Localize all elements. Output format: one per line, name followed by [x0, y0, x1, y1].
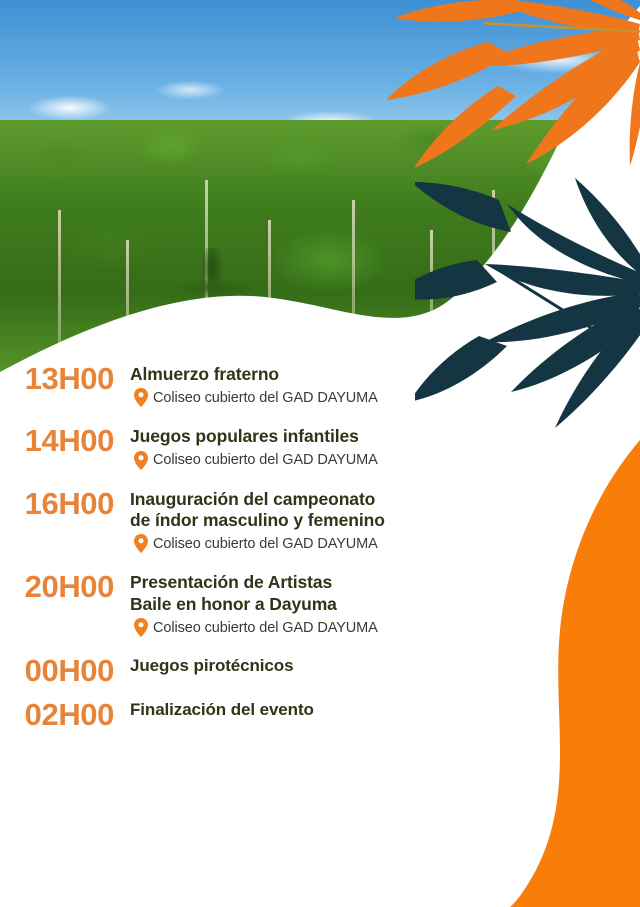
event-detail: Almuerzo fraterno Coliseo cubierto del G… — [130, 362, 560, 407]
venue-text: Coliseo cubierto del GAD DAYUMA — [153, 452, 378, 468]
event-venue: Coliseo cubierto del GAD DAYUMA — [134, 451, 560, 470]
event-poster: 13H00 Almuerzo fraterno Coliseo cubierto… — [0, 0, 640, 907]
event-time: 20H00 — [0, 570, 130, 602]
schedule-row: 16H00 Inauguración del campeonato de índ… — [0, 487, 560, 554]
schedule-row: 02H00 Finalización del evento — [0, 698, 560, 730]
event-detail: Finalización del evento — [130, 698, 560, 721]
event-title: Almuerzo fraterno — [130, 364, 560, 385]
schedule-row: 13H00 Almuerzo fraterno Coliseo cubierto… — [0, 362, 560, 407]
event-detail: Presentación de Artistas Baile en honor … — [130, 570, 560, 637]
event-detail: Inauguración del campeonato de índor mas… — [130, 487, 560, 554]
event-title: Finalización del evento — [130, 700, 560, 721]
schedule-row: 00H00 Juegos pirotécnicos — [0, 654, 560, 686]
palm-tree-crown — [150, 248, 280, 344]
event-detail: Juegos populares infantiles Coliseo cubi… — [130, 424, 560, 469]
venue-text: Coliseo cubierto del GAD DAYUMA — [153, 620, 378, 636]
event-title: Juegos populares infantiles — [130, 426, 560, 447]
event-venue: Coliseo cubierto del GAD DAYUMA — [134, 534, 560, 553]
event-venue: Coliseo cubierto del GAD DAYUMA — [134, 618, 560, 637]
event-title: Presentación de Artistas Baile en honor … — [130, 572, 560, 615]
event-venue: Coliseo cubierto del GAD DAYUMA — [134, 388, 560, 407]
event-title: Juegos pirotécnicos — [130, 656, 560, 677]
event-time: 02H00 — [0, 698, 130, 730]
venue-text: Coliseo cubierto del GAD DAYUMA — [153, 536, 378, 552]
event-time: 00H00 — [0, 654, 130, 686]
location-pin-icon — [134, 388, 148, 407]
location-pin-icon — [134, 618, 148, 637]
schedule-list: 13H00 Almuerzo fraterno Coliseo cubierto… — [0, 362, 560, 742]
event-time: 14H00 — [0, 424, 130, 456]
location-pin-icon — [134, 534, 148, 553]
venue-text: Coliseo cubierto del GAD DAYUMA — [153, 390, 378, 406]
event-detail: Juegos pirotécnicos — [130, 654, 560, 677]
schedule-row: 14H00 Juegos populares infantiles Colise… — [0, 424, 560, 469]
event-time: 16H00 — [0, 487, 130, 519]
event-title: Inauguración del campeonato de índor mas… — [130, 489, 560, 532]
location-pin-icon — [134, 451, 148, 470]
palm-frond-orange-icon — [388, 0, 640, 197]
schedule-row: 20H00 Presentación de Artistas Baile en … — [0, 570, 560, 637]
event-time: 13H00 — [0, 362, 130, 394]
